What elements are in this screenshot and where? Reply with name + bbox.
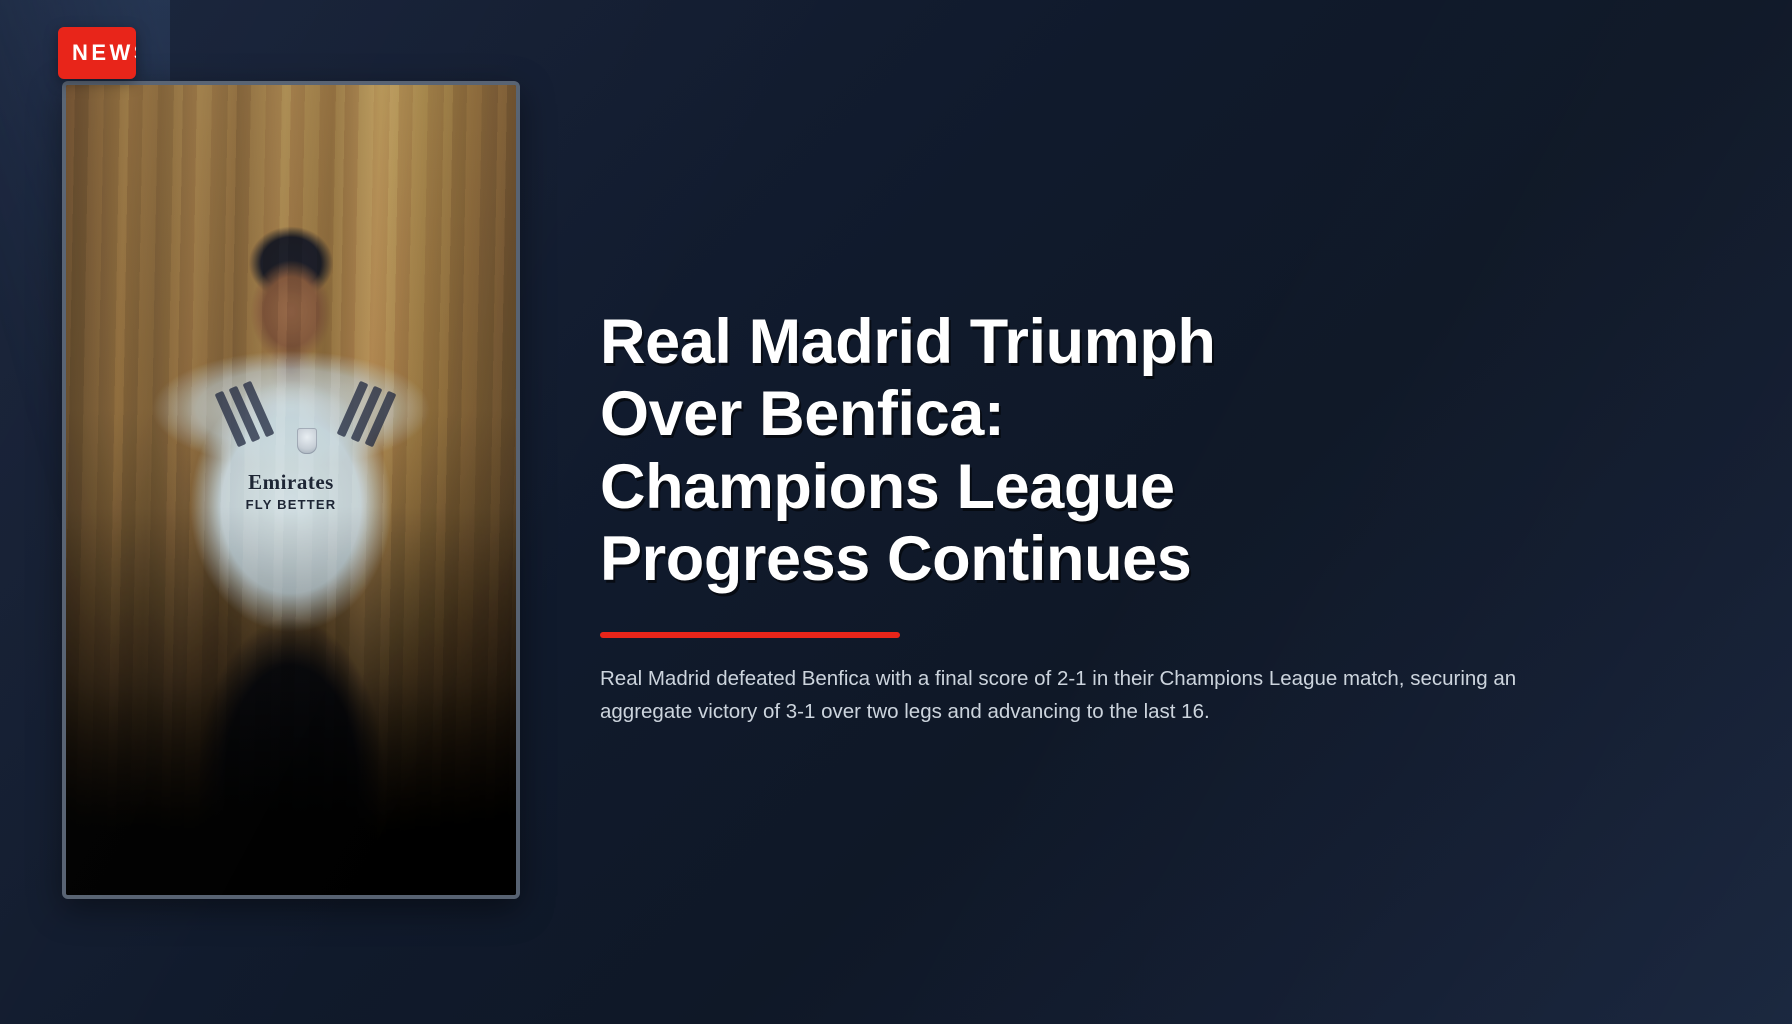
article-content: Real Madrid Triumph Over Benfica: Champi… xyxy=(600,306,1600,728)
news-badge-label: NEWS xyxy=(58,40,136,66)
accent-divider xyxy=(600,632,900,638)
article-summary: Real Madrid defeated Benfica with a fina… xyxy=(600,662,1545,728)
article-photo: Emirates FLY BETTER xyxy=(62,81,520,899)
photo-image xyxy=(66,85,516,895)
article-headline: Real Madrid Triumph Over Benfica: Champi… xyxy=(600,306,1300,596)
news-card: NEWS Emirates FLY BETTER Real Madrid Tri… xyxy=(0,0,1792,1024)
news-badge: NEWS xyxy=(58,27,136,79)
